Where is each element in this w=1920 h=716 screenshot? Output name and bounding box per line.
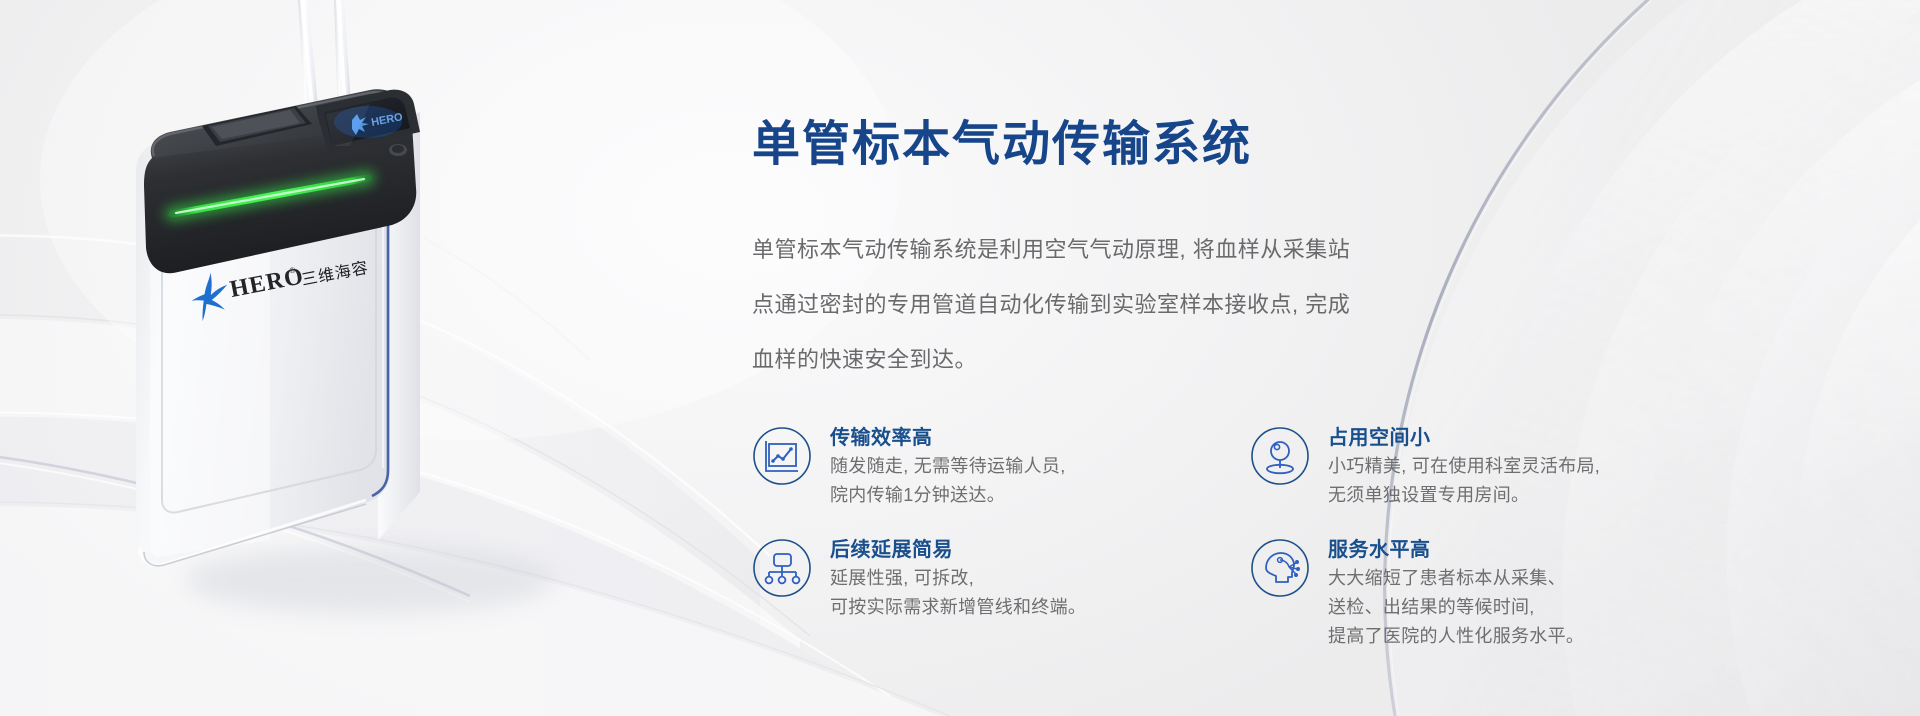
description-line: 血样的快速安全到达。 <box>752 332 1552 387</box>
feature-line: 可按实际需求新增管线和终端。 <box>830 593 1086 622</box>
banner-content: 单管标本气动传输系统 单管标本气动传输系统是利用空气气动原理, 将血样从采集站 … <box>752 0 1812 716</box>
smart-head-icon <box>1250 538 1310 598</box>
feature-line: 无须单独设置专用房间。 <box>1328 481 1600 510</box>
page-title: 单管标本气动传输系统 <box>752 104 1252 174</box>
feature-line: 院内传输1分钟送达。 <box>830 481 1066 510</box>
network-tree-icon <box>752 538 812 598</box>
feature-list: 传输效率高 随发随走, 无需等待运输人员, 院内传输1分钟送达。 <box>752 424 1752 651</box>
feature-line: 大大缩短了患者标本从采集、 <box>1328 564 1584 593</box>
feature-title: 后续延展简易 <box>830 536 1086 564</box>
feature-item-transfer-efficiency: 传输效率高 随发随走, 无需等待运输人员, 院内传输1分钟送达。 <box>752 424 1250 536</box>
feature-line: 送检、出结果的等候时间, <box>1328 593 1584 622</box>
feature-line: 提高了医院的人性化服务水平。 <box>1328 622 1584 651</box>
feature-item-service-level: 服务水平高 大大缩短了患者标本从采集、 送检、出结果的等候时间, 提高了医院的人… <box>1250 536 1748 651</box>
feature-title: 传输效率高 <box>830 424 1066 452</box>
description-line: 点通过密封的专用管道自动化传输到实验室样本接收点, 完成 <box>752 277 1552 332</box>
space-pin-icon <box>1250 426 1310 486</box>
feature-item-easy-extension: 后续延展简易 延展性强, 可拆改, 可按实际需求新增管线和终端。 <box>752 536 1250 651</box>
feature-line: 小巧精美, 可在使用科室灵活布局, <box>1328 452 1600 481</box>
description-line: 单管标本气动传输系统是利用空气气动原理, 将血样从采集站 <box>752 222 1552 277</box>
feature-line: 随发随走, 无需等待运输人员, <box>830 452 1066 481</box>
feature-title: 服务水平高 <box>1328 536 1584 564</box>
product-banner: HERO HERO ® <box>0 0 1920 716</box>
chart-growth-icon <box>752 426 812 486</box>
feature-item-small-footprint: 占用空间小 小巧精美, 可在使用科室灵活布局, 无须单独设置专用房间。 <box>1250 424 1748 536</box>
product-description: 单管标本气动传输系统是利用空气气动原理, 将血样从采集站 点通过密封的专用管道自… <box>752 222 1552 387</box>
product-image: HERO HERO ® <box>120 0 640 716</box>
feature-title: 占用空间小 <box>1328 424 1600 452</box>
feature-line: 延展性强, 可拆改, <box>830 564 1086 593</box>
